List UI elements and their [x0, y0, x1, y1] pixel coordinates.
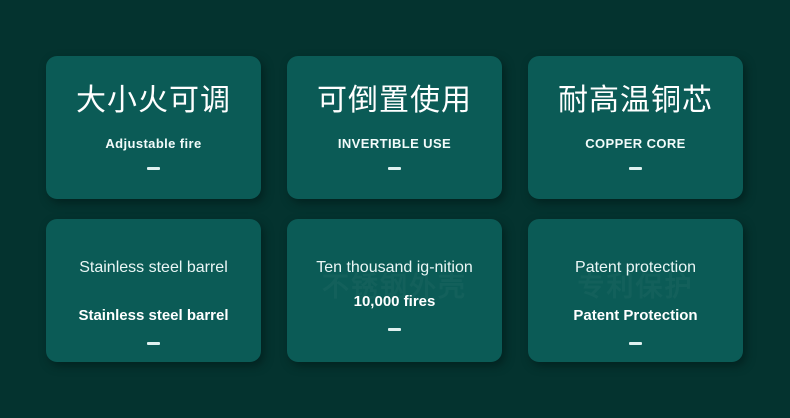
card-headline: 可倒置使用	[317, 85, 472, 117]
card-subline: Adjustable fire	[105, 136, 201, 151]
dash-divider-icon	[629, 342, 642, 345]
dash-divider-icon	[147, 342, 160, 345]
dash-divider-icon	[147, 167, 160, 170]
feature-card-invertible-use[interactable]: 可倒置使用 INVERTIBLE USE	[287, 56, 502, 199]
card-subline: Stainless steel barrel	[78, 307, 228, 324]
card-subline: Patent Protection	[573, 307, 697, 324]
dash-divider-icon	[629, 167, 642, 170]
card-subline: COPPER CORE	[585, 136, 685, 151]
card-subline: 10,000 fires	[354, 293, 436, 310]
dash-divider-icon	[388, 328, 401, 331]
card-headline: 耐高温铜芯	[558, 85, 713, 117]
feature-card-stainless-steel-barrel[interactable]: Stainless steel barrel Stainless steel b…	[46, 219, 261, 362]
card-subline: INVERTIBLE USE	[338, 136, 451, 151]
feature-card-grid: 大小火可调 Adjustable fire 可倒置使用 INVERTIBLE U…	[46, 56, 744, 362]
card-headline: Ten thousand ig-nition	[316, 257, 473, 279]
card-headline: 大小火可调	[76, 85, 231, 117]
card-headline: Stainless steel barrel	[79, 257, 228, 279]
feature-card-patent-protection[interactable]: 专利保护 Patent protection Patent Protection	[528, 219, 743, 362]
feature-card-adjustable-fire[interactable]: 大小火可调 Adjustable fire	[46, 56, 261, 199]
feature-card-ten-thousand-ignition[interactable]: 不锈钢外壳 Ten thousand ig-nition 10,000 fire…	[287, 219, 502, 362]
feature-card-copper-core[interactable]: 耐高温铜芯 COPPER CORE	[528, 56, 743, 199]
dash-divider-icon	[388, 167, 401, 170]
card-headline: Patent protection	[575, 257, 696, 279]
